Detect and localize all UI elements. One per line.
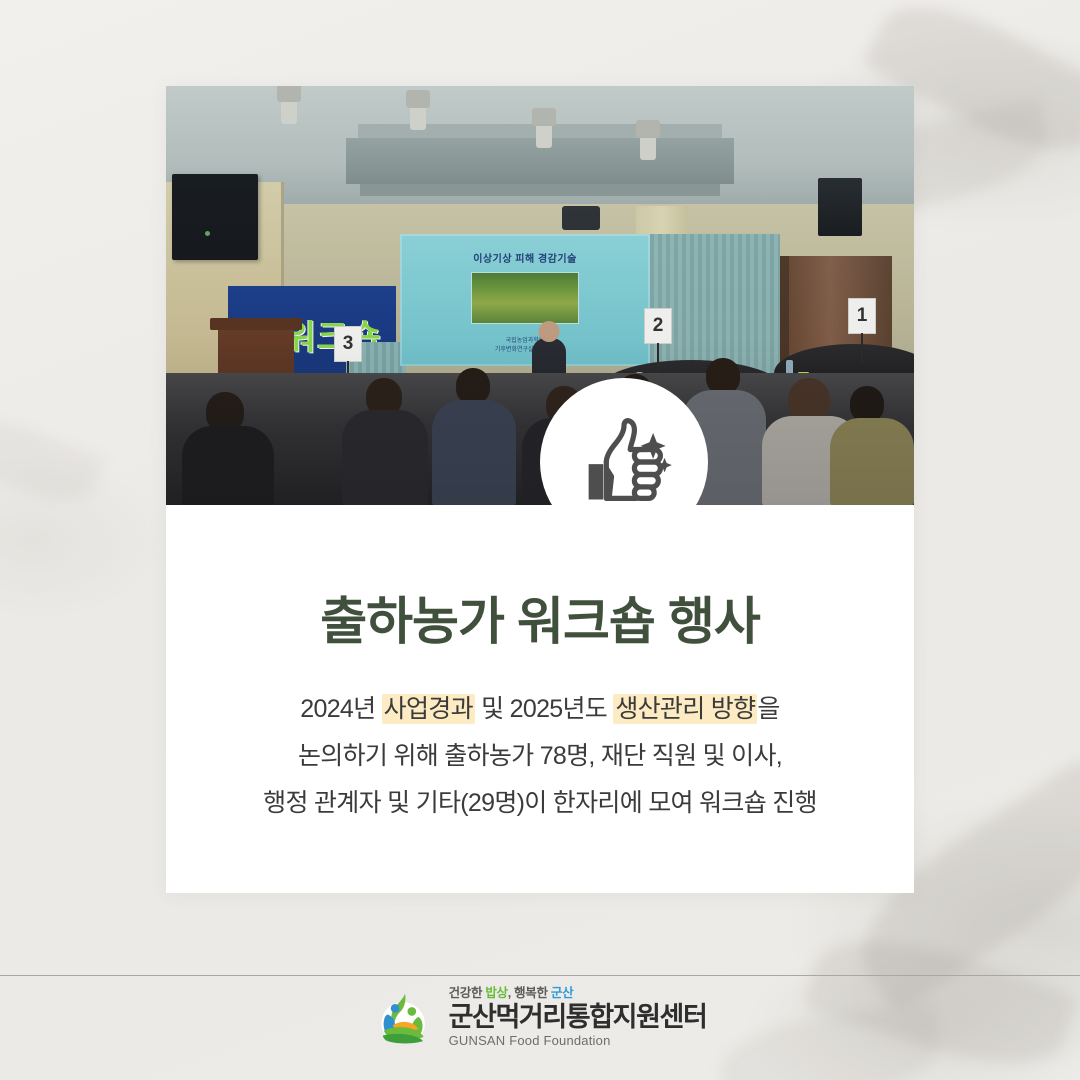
photo-speaker-box — [562, 206, 600, 230]
photo-attendee — [456, 368, 490, 404]
photo-screen-title: 이상기상 피해 경감기술 — [400, 250, 650, 265]
photo-table-number-sign: 3 — [334, 326, 362, 362]
footer-tagline-blue: 군산 — [551, 986, 573, 1000]
page-title: 출하농가 워크숍 행사 — [206, 593, 874, 652]
footer-tagline-part1: 건강한 — [449, 986, 486, 1000]
photo-screen-subtitle-line1: 국립농업과학원 — [400, 337, 650, 345]
plain-text: 을 — [757, 695, 779, 723]
description-line-2: 논의하기 위해 출하농가 78명, 재단 직원 및 이사, — [206, 733, 874, 780]
footer-logo-text: 건강한 밥상, 행복한 군산 군산먹거리통합지원센터 GUNSAN Food F… — [449, 987, 707, 1047]
content-card: 가 워크숍 이상기상 피해 경감기술 국립농업과학원 기후변화연구실 박 상 규 — [166, 86, 914, 893]
photo-ceiling-spotlight — [410, 104, 426, 130]
plain-text: 및 2025년도 — [475, 695, 613, 723]
photo-screen-subtitle-line2: 기후변화연구실 박 상 규 — [400, 346, 650, 354]
footer-tagline-part2: , 행복한 — [508, 986, 551, 1000]
leaf-shadow-decoration — [0, 404, 106, 516]
description-line-1: 2024년 사업경과 및 2025년도 생산관리 방향을 — [206, 686, 874, 733]
thumbs-up-icon — [572, 410, 676, 514]
highlighted-text: 사업경과 — [382, 694, 475, 724]
text-content-block: 출하농가 워크숍 행사 2024년 사업경과 및 2025년도 생산관리 방향을… — [166, 505, 914, 827]
footer-divider — [0, 975, 1080, 976]
plain-text: 행정 관계자 및 기타(29명)이 한자리에 모여 워크숍 진행 — [263, 789, 817, 817]
footer-tagline: 건강한 밥상, 행복한 군산 — [449, 987, 707, 1000]
footer-tagline-green: 밥상 — [485, 986, 507, 1000]
description-line-3: 행정 관계자 및 기타(29명)이 한자리에 모여 워크숍 진행 — [206, 780, 874, 827]
photo-screen-image — [471, 272, 579, 324]
photo-attendee — [432, 400, 516, 505]
photo-ceiling-spotlight — [640, 134, 656, 160]
photo-attendee — [830, 418, 914, 505]
photo-ceiling-spotlight — [536, 122, 552, 148]
photo-attendee — [706, 358, 740, 394]
photo-screen-subtitle: 국립농업과학원 기후변화연구실 박 상 규 — [400, 337, 650, 354]
photo-attendee — [182, 426, 274, 505]
footer: 건강한 밥상, 행복한 군산 군산먹거리통합지원센터 GUNSAN Food F… — [0, 986, 1080, 1048]
photo-table-number-sign: 2 — [644, 308, 672, 344]
description: 2024년 사업경과 및 2025년도 생산관리 방향을 논의하기 위해 출하농… — [206, 686, 874, 827]
photo-wall-monitor — [172, 174, 258, 260]
footer-organization-name-en: GUNSAN Food Foundation — [449, 1034, 707, 1047]
photo-table-number-sign: 1 — [848, 298, 876, 334]
plain-text: 논의하기 위해 출하농가 78명, 재단 직원 및 이사, — [298, 742, 782, 770]
thumbs-up-badge — [540, 378, 708, 546]
photo-attendee — [850, 386, 884, 422]
footer-organization-name: 군산먹거리통합지원센터 — [449, 1004, 707, 1031]
plain-text: 2024년 — [300, 695, 381, 723]
event-photo: 가 워크숍 이상기상 피해 경감기술 국립농업과학원 기후변화연구실 박 상 규 — [166, 86, 914, 505]
highlighted-text: 생산관리 방향 — [613, 694, 757, 724]
gunsan-food-foundation-logo-icon — [374, 986, 436, 1048]
photo-speaker-box — [818, 178, 862, 236]
photo-attendee — [342, 410, 428, 505]
photo-projection-screen: 이상기상 피해 경감기술 국립농업과학원 기후변화연구실 박 상 규 — [400, 234, 650, 366]
photo-ceiling-spotlight — [281, 98, 297, 124]
